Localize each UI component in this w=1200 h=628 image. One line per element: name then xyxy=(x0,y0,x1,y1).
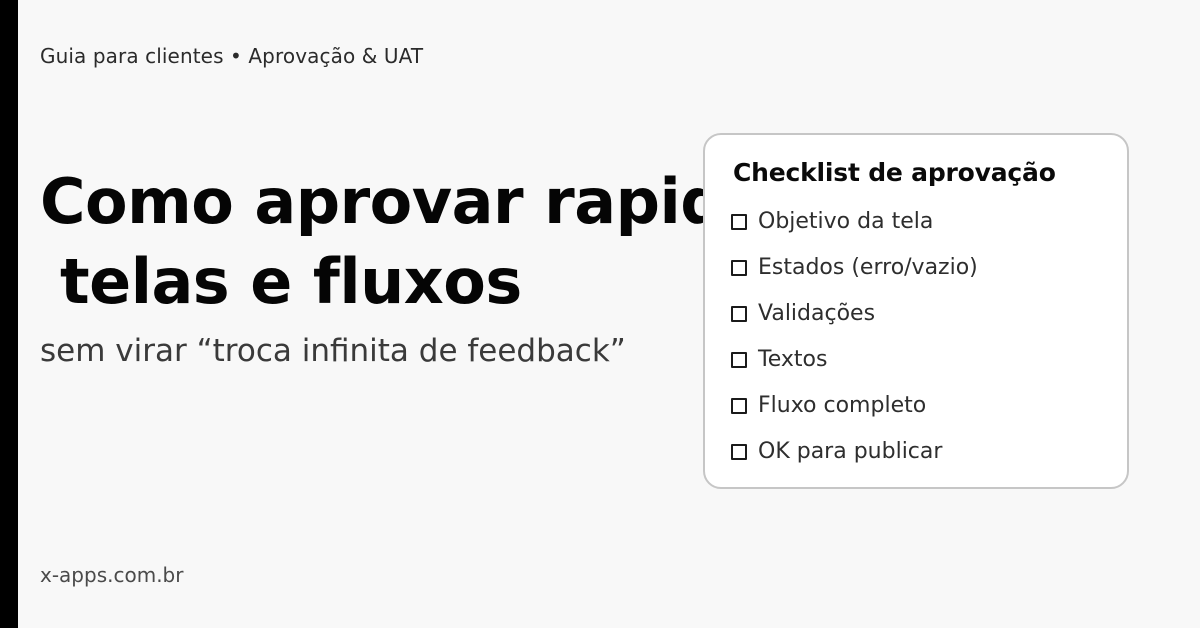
list-item[interactable]: OK para publicar xyxy=(731,429,1101,475)
checklist: Objetivo da tela Estados (erro/vazio) Va… xyxy=(731,199,1101,475)
list-item-label: Objetivo da tela xyxy=(758,208,933,236)
list-item-label: OK para publicar xyxy=(758,438,942,466)
list-item[interactable]: Validações xyxy=(731,291,1101,337)
footer-url: x-apps.com.br xyxy=(40,561,183,589)
list-item[interactable]: Textos xyxy=(731,337,1101,383)
checkbox-empty-icon[interactable] xyxy=(731,352,747,368)
list-item-label: Estados (erro/vazio) xyxy=(758,254,978,282)
checkbox-empty-icon[interactable] xyxy=(731,306,747,322)
list-item[interactable]: Fluxo completo xyxy=(731,383,1101,429)
eyebrow-text: Guia para clientes • Aprovação & UAT xyxy=(40,43,423,69)
list-item[interactable]: Objetivo da tela xyxy=(731,199,1101,245)
approval-checklist-card: Checklist de aprovação Objetivo da tela … xyxy=(703,133,1129,489)
checkbox-empty-icon[interactable] xyxy=(731,260,747,276)
left-accent-bar xyxy=(0,0,18,628)
checkbox-empty-icon[interactable] xyxy=(731,398,747,414)
checkbox-empty-icon[interactable] xyxy=(731,214,747,230)
slide-canvas: Guia para clientes • Aprovação & UAT Com… xyxy=(0,0,1200,628)
checkbox-empty-icon[interactable] xyxy=(731,444,747,460)
list-item-label: Validações xyxy=(758,300,875,328)
list-item[interactable]: Estados (erro/vazio) xyxy=(731,245,1101,291)
checklist-title: Checklist de aprovação xyxy=(733,157,1101,189)
list-item-label: Fluxo completo xyxy=(758,392,926,420)
list-item-label: Textos xyxy=(758,346,827,374)
